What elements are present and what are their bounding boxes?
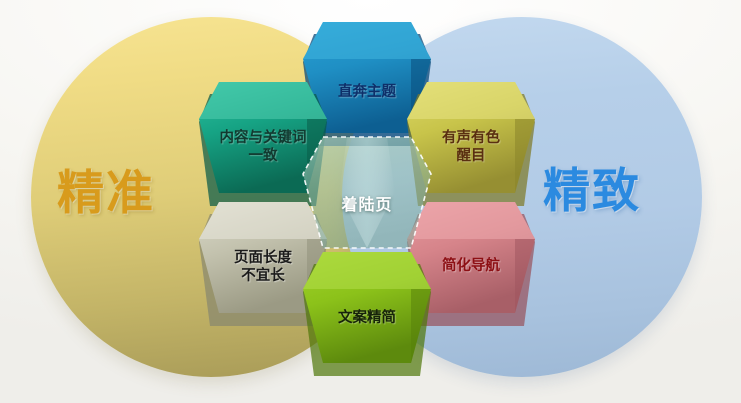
hexagon-cluster: 直奔主题 内容与关键词 一致 — [0, 0, 741, 403]
infographic-canvas: 精准 精致 直奔主题 — [0, 0, 741, 403]
hexagon-center[interactable]: 着陆页 — [303, 137, 431, 285]
